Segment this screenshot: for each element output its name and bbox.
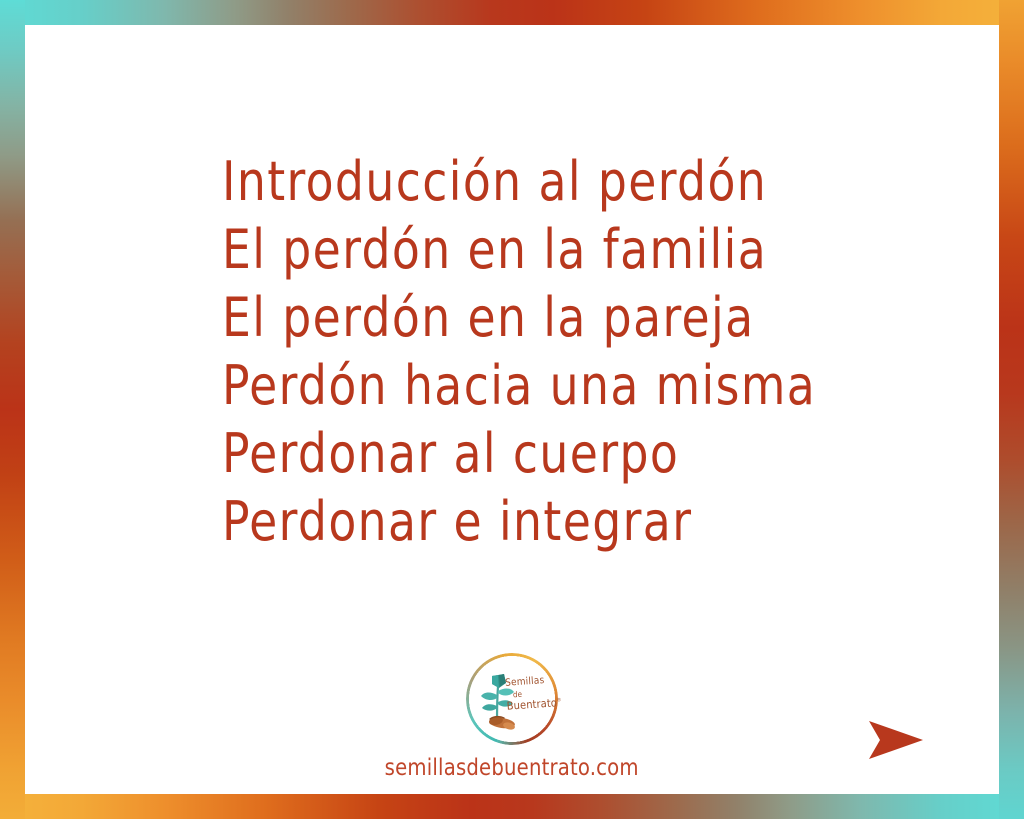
topic-line-1: Introducción al perdón [222, 148, 824, 216]
logo-trademark: ® [557, 698, 562, 704]
slide-content: Introducción al perdón El perdón en la f… [25, 25, 999, 794]
gradient-border-top [0, 0, 1024, 25]
gradient-border-left [0, 0, 25, 819]
topic-line-3: El perdón en la pareja [222, 284, 824, 352]
brand-block: Semillas de Buentrato® semillasdebuentra… [25, 653, 999, 781]
logo-word-3-text: Buentrato [506, 697, 557, 713]
next-arrow-icon[interactable] [865, 717, 927, 763]
slide-canvas: Introducción al perdón El perdón en la f… [0, 0, 1024, 819]
topic-line-6: Perdonar e integrar [222, 488, 824, 556]
gradient-border-bottom [0, 794, 1024, 819]
topic-line-4: Perdón hacia una misma [222, 352, 824, 420]
gradient-border-right [999, 0, 1024, 819]
topic-line-2: El perdón en la familia [222, 216, 824, 284]
website-url[interactable]: semillasdebuentrato.com [385, 755, 639, 781]
brand-logo: Semillas de Buentrato® [466, 653, 558, 745]
topic-line-5: Perdonar al cuerpo [222, 420, 824, 488]
topic-list: Introducción al perdón El perdón en la f… [222, 148, 862, 556]
logo-wordmark: Semillas de Buentrato® [505, 673, 560, 715]
